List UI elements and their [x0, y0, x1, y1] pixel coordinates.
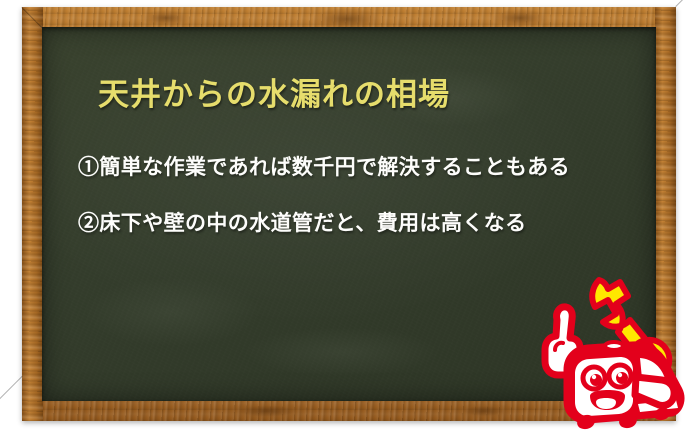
chalk-smudge	[82, 277, 262, 347]
frame-mitre-bottom-right	[653, 421, 698, 432]
board-bullet-line-2: ②床下や壁の中の水道管だと、費用は高くなる	[78, 207, 527, 237]
wood-knot-icon	[452, 403, 516, 419]
wood-knot-icon	[222, 402, 312, 420]
chalkboard-surface: 天井からの水漏れの相場 ①簡単な作業であれば数千円で解決することもある ②床下や…	[42, 27, 656, 401]
wood-knot-icon	[492, 9, 548, 27]
frame-stile-right	[655, 7, 676, 421]
board-bullet-line-1: ①簡単な作業であれば数千円で解決することもある	[78, 151, 570, 181]
frame-stile-left	[22, 7, 43, 421]
board-title: 天井からの水漏れの相場	[98, 69, 450, 114]
chalk-smudge	[242, 327, 442, 377]
wood-knot-icon	[142, 10, 190, 26]
slide-canvas: 天井からの水漏れの相場 ①簡単な作業であれば数千円で解決することもある ②床下や…	[0, 0, 700, 432]
frame-mitre-top-right	[653, 0, 698, 7]
